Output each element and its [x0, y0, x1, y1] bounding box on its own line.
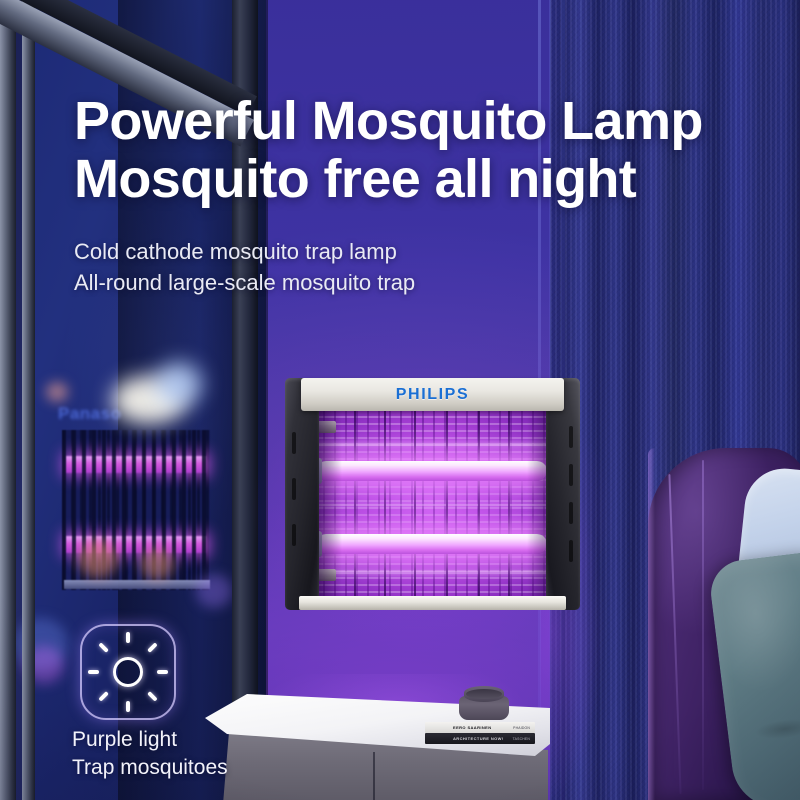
headline-line-2: Mosquito free all night	[74, 150, 764, 208]
sun-ray-2	[147, 642, 158, 653]
sun-ray-1	[126, 632, 130, 643]
sun-ray-6	[98, 691, 109, 702]
sun-ray-7	[88, 670, 99, 674]
sun-brightness-icon	[80, 624, 176, 720]
sun-ray-3	[157, 670, 168, 674]
product-ad-image: Panaso EERO SAARINEN PHAIDON ARCHITECTUR…	[0, 0, 800, 800]
sun-ray-4	[147, 691, 158, 702]
subtitle-line-2: All-round large-scale mosquito trap	[74, 267, 594, 298]
sun-ray-5	[126, 701, 130, 712]
subtitle-line-1: Cold cathode mosquito trap lamp	[74, 236, 594, 267]
subtitle: Cold cathode mosquito trap lamp All-roun…	[74, 236, 594, 298]
badge-line-2: Trap mosquitoes	[72, 754, 302, 782]
sun-ray-8	[98, 642, 109, 653]
badge-caption: Purple light Trap mosquitoes	[72, 726, 302, 782]
feature-badge: Purple light Trap mosquitoes	[72, 624, 302, 784]
badge-line-1: Purple light	[72, 726, 302, 754]
headline-line-1: Powerful Mosquito Lamp	[74, 92, 764, 150]
page-title: Powerful Mosquito Lamp Mosquito free all…	[74, 92, 764, 208]
sun-core-circle	[113, 657, 143, 687]
